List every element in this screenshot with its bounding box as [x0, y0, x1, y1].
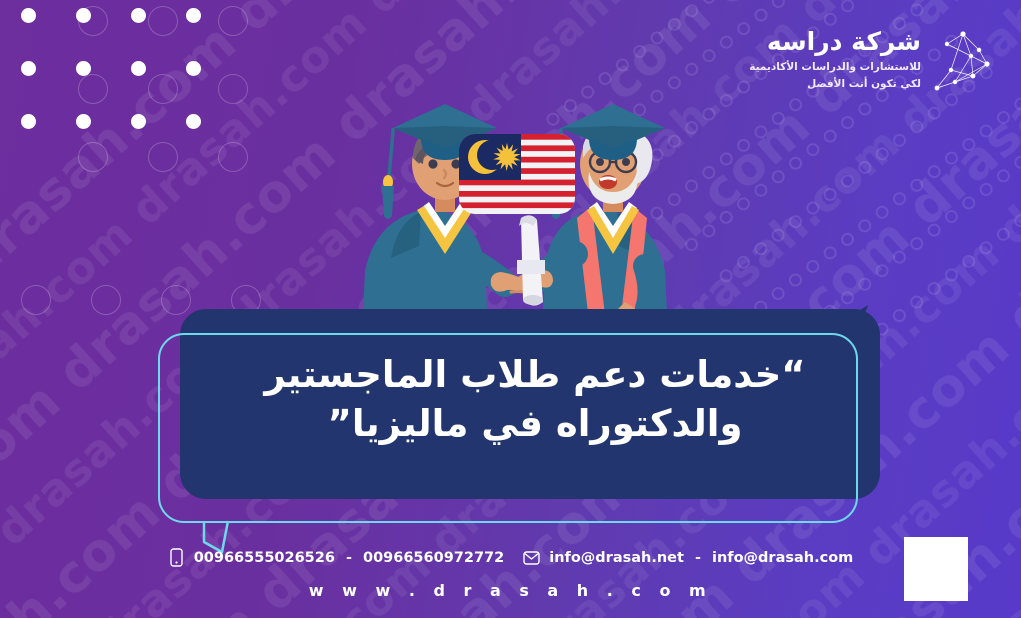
speech-bubble: “خدمات دعم طلاب الماجستير والدكتوراه في …: [150, 305, 880, 540]
logo-subtitle: للاستشارات والدراسات الأكاديمية: [749, 61, 921, 73]
contact-line: 00966555026526 - 00966560972772 info@dra…: [168, 548, 854, 567]
headline-text: “خدمات دعم طلاب الماجستير والدكتوراه في …: [190, 351, 880, 449]
logo-brand-name: شركة دراسه: [749, 28, 921, 57]
decorative-dot-grid-topleft: [21, 8, 201, 129]
qr-code-matrix: [907, 540, 965, 598]
malaysia-flag-icon: [459, 134, 575, 214]
contact-bar: 00966555026526 - 00966560972772 info@dra…: [0, 548, 1021, 600]
phone-number-2[interactable]: 00966560972772: [363, 550, 504, 566]
separator-1: -: [344, 550, 354, 566]
separator-2: -: [693, 550, 703, 566]
headline-line-2: والدكتوراه في ماليزيا”: [190, 400, 880, 449]
website-url[interactable]: w w w . d r a s a h . c o m: [0, 581, 1021, 600]
logo-tagline: لكي تكون أنت الأفضل: [749, 78, 921, 90]
banner-canvas: drasah.com drasah.com drasah.com drasah.…: [0, 0, 1021, 618]
wing-dots-logomark-icon: [927, 30, 1013, 102]
mobile-phone-icon: [168, 548, 185, 567]
phone-number-1[interactable]: 00966555026526: [194, 550, 335, 566]
logo-text-block: شركة دراسه للاستشارات والدراسات الأكاديم…: [749, 28, 921, 90]
email-2[interactable]: info@drasah.com: [712, 550, 853, 566]
email-1[interactable]: info@drasah.net: [549, 550, 684, 566]
decorative-ring-grid-topleft: [78, 6, 248, 172]
qr-code[interactable]: [904, 537, 968, 601]
headline-line-1: “خدمات دعم طلاب الماجستير: [190, 351, 880, 400]
envelope-icon: [523, 548, 540, 567]
